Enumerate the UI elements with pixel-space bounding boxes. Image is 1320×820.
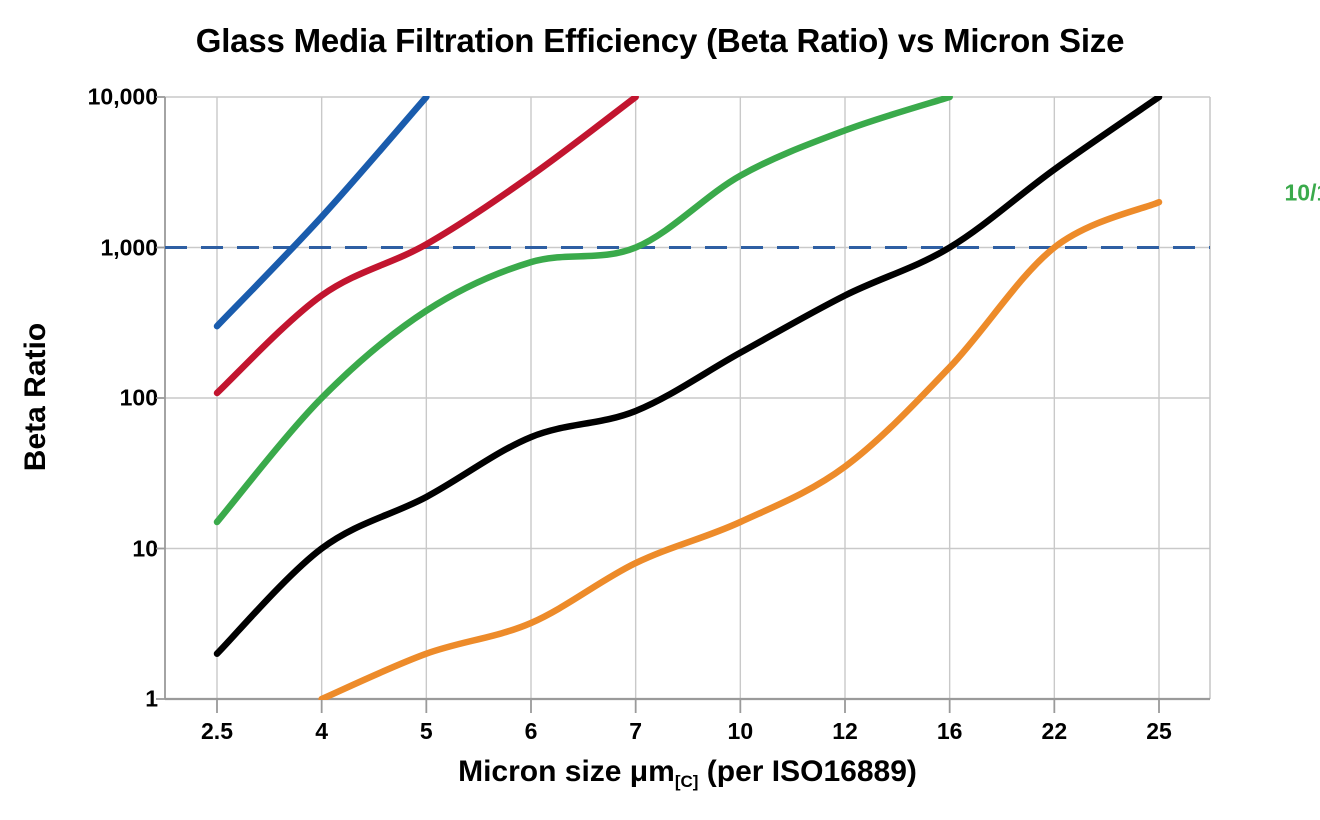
plot-area bbox=[0, 0, 1320, 820]
chart-container: Glass Media Filtration Efficiency (Beta … bbox=[0, 0, 1320, 820]
